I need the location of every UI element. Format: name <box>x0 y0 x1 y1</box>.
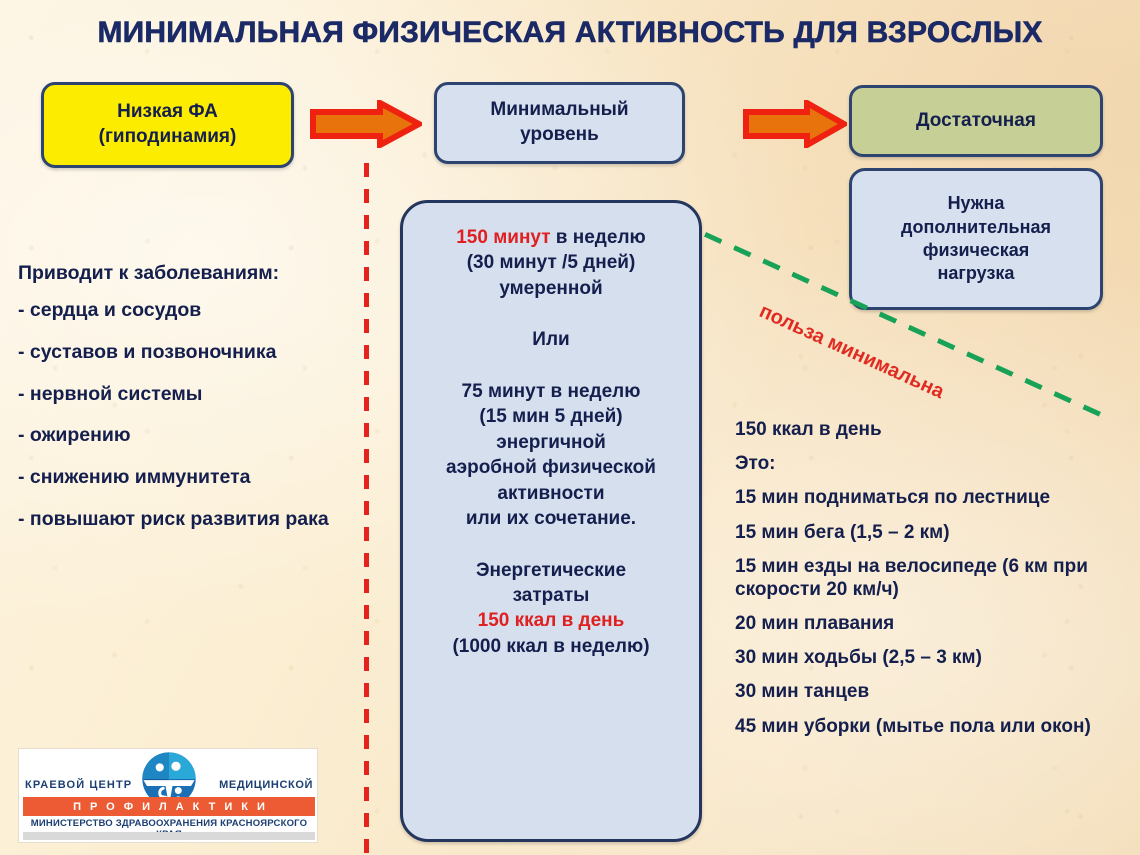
list-item: 20 мин плавания <box>735 612 1135 635</box>
list-item: 30 мин танцев <box>735 680 1135 703</box>
flow-box-extra-load-line2: дополнительная <box>901 216 1051 239</box>
flow-box-extra-load-line4: нагрузка <box>901 262 1051 285</box>
energy-150-kcal-highlight: 150 ккал в день <box>415 608 687 633</box>
diseases-list-heading: Приводит к заболеваниям: <box>18 262 354 285</box>
right-arrow-icon <box>743 100 847 148</box>
page-title: МИНИМАЛЬНАЯ ФИЗИЧЕСКАЯ АКТИВНОСТЬ ДЛЯ ВЗ… <box>0 16 1140 50</box>
logo-top-row: КРАЕВОЙ ЦЕНТР МЕДИЦИНСКОЙ <box>19 753 318 797</box>
organization-logo: КРАЕВОЙ ЦЕНТР МЕДИЦИНСКОЙ ПРОФИЛАКТИКИ М… <box>18 748 318 843</box>
flow-box-extra-load-line3: физическая <box>901 239 1051 262</box>
list-item: 15 мин езды на велосипеде (6 км при скор… <box>735 555 1135 601</box>
recommendation-line-1: 150 минут в неделю <box>415 225 687 250</box>
flow-box-extra-load: Нужна дополнительная физическая нагрузка <box>849 168 1103 310</box>
list-item: Это: <box>735 452 1135 475</box>
diseases-list: Приводит к заболеваниям: - сердца и сосу… <box>18 262 354 550</box>
list-item: - повышают риск развития рака <box>18 508 354 532</box>
list-item: 15 мин подниматься по лестнице <box>735 486 1135 509</box>
recommendation-line-10: или их сочетание. <box>415 506 687 531</box>
recommendation-150-min-rest: в неделю <box>551 227 646 248</box>
recommendation-line-5: 75 минут в неделю <box>415 379 687 404</box>
list-item: - сердца и сосудов <box>18 299 354 323</box>
kcal-examples-list: 150 ккал в день Это: 15 мин подниматься … <box>735 418 1135 749</box>
flow-box-minimal-level-line1: Минимальный <box>490 98 628 123</box>
flow-box-low-activity-line1: Низкая ФА <box>99 100 237 125</box>
benefit-minimal-annotation: польза минимальна <box>755 300 947 404</box>
recommendation-line-9: активности <box>415 481 687 506</box>
recommendation-line-8: аэробной физической <box>415 455 687 480</box>
recommendation-panel: 150 минут в неделю (30 минут /5 дней) ум… <box>400 200 702 842</box>
energy-expenditure-heading: Энергетические <box>415 558 687 583</box>
list-item: 45 мин уборки (мытье пола или окон) <box>735 715 1135 738</box>
logo-word-left: КРАЕВОЙ ЦЕНТР <box>25 779 132 791</box>
infographic-page: МИНИМАЛЬНАЯ ФИЗИЧЕСКАЯ АКТИВНОСТЬ ДЛЯ ВЗ… <box>0 0 1140 855</box>
list-item: - ожирению <box>18 424 354 448</box>
flow-box-minimal-level-line2: уровень <box>490 123 628 148</box>
energy-weekly-value: (1000 ккал в неделю) <box>415 634 687 659</box>
energy-expenditure-heading-2: затраты <box>415 583 687 608</box>
recommendation-or: Или <box>415 327 687 352</box>
list-item: 150 ккал в день <box>735 418 1135 441</box>
logo-word-right: МЕДИЦИНСКОЙ <box>219 779 313 791</box>
logo-footer-bar <box>23 832 315 840</box>
logo-band: ПРОФИЛАКТИКИ <box>23 797 315 816</box>
right-arrow-icon <box>310 100 422 148</box>
list-item: 15 мин бега (1,5 – 2 км) <box>735 521 1135 544</box>
list-item: - суставов и позвоночника <box>18 341 354 365</box>
flow-box-sufficient: Достаточная <box>849 85 1103 157</box>
flow-box-low-activity: Низкая ФА (гиподинамия) <box>41 82 294 168</box>
recommendation-150-min-highlight: 150 минут <box>456 227 550 248</box>
flow-box-minimal-level: Минимальный уровень <box>434 82 685 164</box>
list-item: - нервной системы <box>18 383 354 407</box>
flow-box-extra-load-line1: Нужна <box>901 192 1051 215</box>
recommendation-line-6: (15 мин 5 дней) <box>415 404 687 429</box>
recommendation-line-3: умеренной <box>415 276 687 301</box>
list-item: - снижению иммунитета <box>18 466 354 490</box>
recommendation-line-7: энергичной <box>415 430 687 455</box>
flow-box-low-activity-line2: (гиподинамия) <box>99 125 237 150</box>
list-item: 30 мин ходьбы (2,5 – 3 км) <box>735 646 1135 669</box>
red-dashed-divider <box>364 163 369 853</box>
recommendation-line-2: (30 минут /5 дней) <box>415 250 687 275</box>
flow-box-sufficient-label: Достаточная <box>916 109 1036 134</box>
logo-band-text: ПРОФИЛАКТИКИ <box>64 801 274 813</box>
